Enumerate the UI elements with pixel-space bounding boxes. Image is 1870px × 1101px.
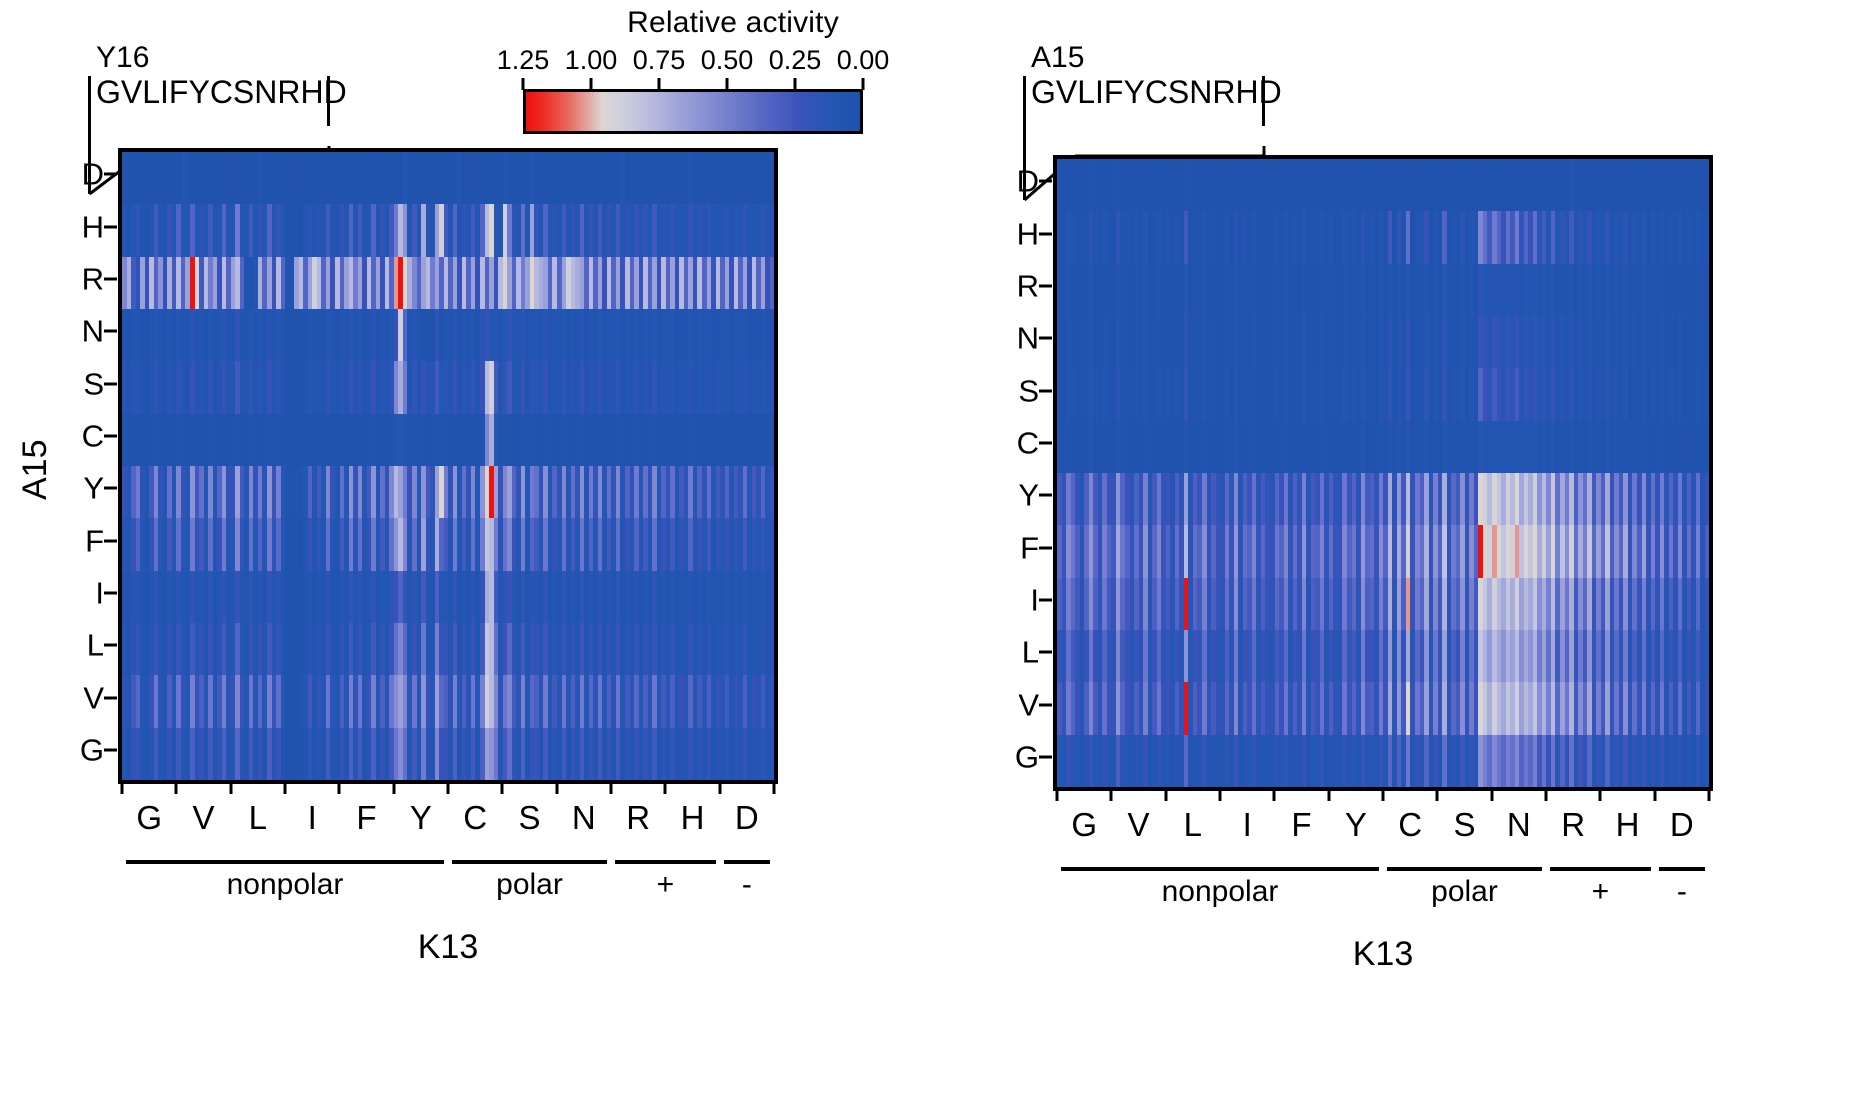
x-ticks-right <box>1057 787 1709 801</box>
heatmap-cell <box>1705 682 1710 734</box>
top-site-label-left: Y16 <box>88 42 347 74</box>
x-tick-label: H <box>1616 807 1640 843</box>
heatmap-cell <box>770 675 775 727</box>
heatmap-row <box>122 623 774 675</box>
heatmap-cell <box>770 571 775 623</box>
heatmap-row <box>1057 525 1709 577</box>
x-axis-title-right: K13 <box>1057 935 1709 974</box>
heatmap-cell <box>770 309 775 361</box>
x-tick-label: V <box>192 800 214 836</box>
y-tick-label: Y <box>993 480 1039 511</box>
group-bracket-line <box>615 860 716 864</box>
x-tick <box>1653 787 1656 801</box>
heatmap-cell <box>770 257 775 309</box>
heatmap-cell <box>770 466 775 518</box>
heatmap-row <box>1057 578 1709 630</box>
x-tick-label: C <box>463 800 487 836</box>
y-tick <box>1039 180 1052 183</box>
heatmap-row <box>122 728 774 780</box>
heatmap-row <box>122 675 774 727</box>
y-tick <box>1039 284 1052 287</box>
y-tick <box>104 748 117 751</box>
x-tick <box>121 780 124 794</box>
y-tick-label: S <box>58 368 104 399</box>
x-tick <box>1599 787 1602 801</box>
y-tick-labels-left: DHRNSCYFILVG <box>58 148 104 776</box>
y-tick-label: L <box>993 637 1039 668</box>
x-tick <box>229 780 232 794</box>
heatmap-panel-right: A15 GVLIFYCSNRHD Y16 DHRNSCYFILVG GVLIFY… <box>935 0 1870 1101</box>
heatmap-row <box>122 414 774 466</box>
y-tick-label: V <box>993 689 1039 720</box>
y-tick-label: I <box>58 577 104 608</box>
y-tick <box>1039 389 1052 392</box>
x-axis-title-left: K13 <box>122 928 774 967</box>
heatmap-cell <box>1705 630 1710 682</box>
x-tick <box>1110 787 1113 801</box>
y-tick <box>1039 494 1052 497</box>
y-tick <box>104 330 117 333</box>
y-tick-label: S <box>993 375 1039 406</box>
y-tick <box>104 225 117 228</box>
heatmap-row <box>122 361 774 413</box>
x-tick-label: F <box>356 800 376 836</box>
y-tick <box>1039 598 1052 601</box>
y-tick <box>104 644 117 647</box>
heatmap-right[interactable] <box>1053 155 1713 791</box>
x-tick <box>1056 787 1059 801</box>
group-label: nonpolar <box>1162 875 1279 909</box>
x-tick <box>501 780 504 794</box>
x-tick-label: G <box>136 800 162 836</box>
group-label: + <box>657 868 675 902</box>
heatmap-row <box>1057 421 1709 473</box>
x-tick <box>1708 787 1711 801</box>
y-axis-title-left: A15 <box>16 440 55 501</box>
group-label: polar <box>1431 875 1498 909</box>
x-tick <box>1382 787 1385 801</box>
y-tick <box>104 277 117 280</box>
heatmap-cell <box>1705 421 1710 473</box>
heatmap-row <box>122 466 774 518</box>
x-tick <box>773 780 776 794</box>
y-tick-label: H <box>993 218 1039 249</box>
y-tick-label: N <box>993 323 1039 354</box>
x-tick <box>1164 787 1167 801</box>
heatmap-cell <box>1705 578 1710 630</box>
x-tick-label: L <box>1184 807 1202 843</box>
heatmap-row <box>1057 630 1709 682</box>
x-tick-label: N <box>572 800 596 836</box>
heatmap-row <box>1057 316 1709 368</box>
x-tick-label: I <box>308 800 317 836</box>
x-tick <box>338 780 341 794</box>
x-tick <box>718 780 721 794</box>
x-tick <box>175 780 178 794</box>
group-bracket-line <box>724 860 770 864</box>
y-tick-label: Y <box>58 473 104 504</box>
x-tick-label: Y <box>1345 807 1367 843</box>
heatmap-cell <box>1705 316 1710 368</box>
x-tick-label: D <box>1670 807 1694 843</box>
heatmap-cell <box>1705 525 1710 577</box>
heatmap-row <box>1057 159 1709 211</box>
x-tick-label: F <box>1291 807 1311 843</box>
heatmap-cell <box>770 623 775 675</box>
heatmap-cell <box>770 152 775 204</box>
y-tick <box>104 487 117 490</box>
heatmap-row <box>122 204 774 256</box>
x-tick <box>1545 787 1548 801</box>
heatmap-row <box>122 518 774 570</box>
group-bracket-line <box>1550 867 1651 871</box>
x-tick-label: S <box>1453 807 1475 843</box>
y-tick-label: D <box>993 166 1039 197</box>
heatmap-row <box>1057 735 1709 787</box>
y-tick <box>104 696 117 699</box>
heatmap-cell <box>1705 159 1710 211</box>
group-bracket-line <box>1659 867 1705 871</box>
y-tick-labels-right: DHRNSCYFILVG <box>993 155 1039 783</box>
group-bracket-line <box>126 860 444 864</box>
heatmap-row <box>1057 211 1709 263</box>
heatmap-cell <box>1705 211 1710 263</box>
heatmap-row <box>122 257 774 309</box>
y-tick <box>104 539 117 542</box>
x-tick-label: Y <box>410 800 432 836</box>
group-bracket-line <box>452 860 607 864</box>
y-tick <box>104 382 117 385</box>
group-bracket-line <box>1061 867 1379 871</box>
x-group-brackets-right: nonpolarpolar+- <box>1057 867 1709 941</box>
x-tick <box>1219 787 1222 801</box>
group-label: nonpolar <box>227 868 344 902</box>
x-tick <box>555 780 558 794</box>
x-tick-labels-right: GVLIFYCSNRHD <box>1057 807 1709 843</box>
heatmap-row <box>122 152 774 204</box>
y-tick <box>1039 546 1052 549</box>
x-tick-label: R <box>626 800 650 836</box>
x-group-brackets-left: nonpolarpolar+- <box>122 860 774 934</box>
top-annotation-right: A15 GVLIFYCSNRHD <box>1023 42 1282 110</box>
x-tick-labels-left: GVLIFYCSNRHD <box>122 800 774 836</box>
group-label: - <box>1677 875 1687 909</box>
heatmap-row <box>122 571 774 623</box>
x-tick <box>392 780 395 794</box>
y-tick-label: V <box>58 682 104 713</box>
group-label: polar <box>496 868 563 902</box>
x-tick-label: L <box>249 800 267 836</box>
heatmap-cell <box>770 728 775 780</box>
top-annotation-left: Y16 GVLIFYCSNRHD <box>88 42 347 110</box>
y-tick-label: G <box>993 741 1039 772</box>
heatmap-row <box>1057 264 1709 316</box>
group-label: + <box>1592 875 1610 909</box>
heatmap-cell <box>1705 264 1710 316</box>
heatmap-row <box>122 309 774 361</box>
y-tick-label: R <box>58 263 104 294</box>
y-tick <box>1039 337 1052 340</box>
heatmap-cell <box>1705 735 1710 787</box>
x-tick-label: S <box>518 800 540 836</box>
y-tick-label: D <box>58 159 104 190</box>
y-tick-label: C <box>58 420 104 451</box>
x-tick-label: C <box>1398 807 1422 843</box>
y-tick <box>104 434 117 437</box>
heatmap-cell <box>770 361 775 413</box>
x-ticks-left <box>122 780 774 794</box>
x-tick <box>664 780 667 794</box>
x-tick <box>1490 787 1493 801</box>
top-site-label-right: A15 <box>1023 42 1282 74</box>
x-tick <box>447 780 450 794</box>
y-tick-label: F <box>993 532 1039 563</box>
y-tick-label: N <box>58 316 104 347</box>
y-tick-label: H <box>58 211 104 242</box>
x-tick-label: H <box>681 800 705 836</box>
y-tick <box>1039 703 1052 706</box>
y-tick <box>1039 651 1052 654</box>
y-tick <box>104 173 117 176</box>
heatmap-cell <box>1705 368 1710 420</box>
group-label: - <box>742 868 752 902</box>
heatmap-cell <box>1705 473 1710 525</box>
y-tick-label: F <box>58 525 104 556</box>
heatmap-left[interactable] <box>118 148 778 784</box>
y-tick <box>1039 755 1052 758</box>
group-bracket-line <box>1387 867 1542 871</box>
y-tick-label: C <box>993 427 1039 458</box>
y-tick <box>1039 441 1052 444</box>
heatmap-cell <box>770 414 775 466</box>
x-tick-label: N <box>1507 807 1531 843</box>
y-tick <box>1039 232 1052 235</box>
y-tick <box>104 591 117 594</box>
x-tick <box>610 780 613 794</box>
x-tick <box>1273 787 1276 801</box>
heatmap-rows-left <box>122 152 774 780</box>
heatmap-cell <box>770 518 775 570</box>
y-tick-label: R <box>993 270 1039 301</box>
x-tick-label: V <box>1127 807 1149 843</box>
heatmap-row <box>1057 368 1709 420</box>
heatmap-panel-left: Y16 GVLIFYCSNRHD A15 DHRNSCYFILVG GVLIFY… <box>0 0 935 1101</box>
y-tick-label: I <box>993 584 1039 615</box>
x-tick-label: I <box>1243 807 1252 843</box>
x-tick <box>1327 787 1330 801</box>
x-tick <box>284 780 287 794</box>
x-tick-label: R <box>1561 807 1585 843</box>
y-tick-label: L <box>58 630 104 661</box>
x-tick-label: G <box>1071 807 1097 843</box>
heatmap-row <box>1057 682 1709 734</box>
x-tick <box>1436 787 1439 801</box>
x-tick-label: D <box>735 800 759 836</box>
heatmap-cell <box>770 204 775 256</box>
heatmap-rows-right <box>1057 159 1709 787</box>
heatmap-row <box>1057 473 1709 525</box>
y-tick-label: G <box>58 734 104 765</box>
